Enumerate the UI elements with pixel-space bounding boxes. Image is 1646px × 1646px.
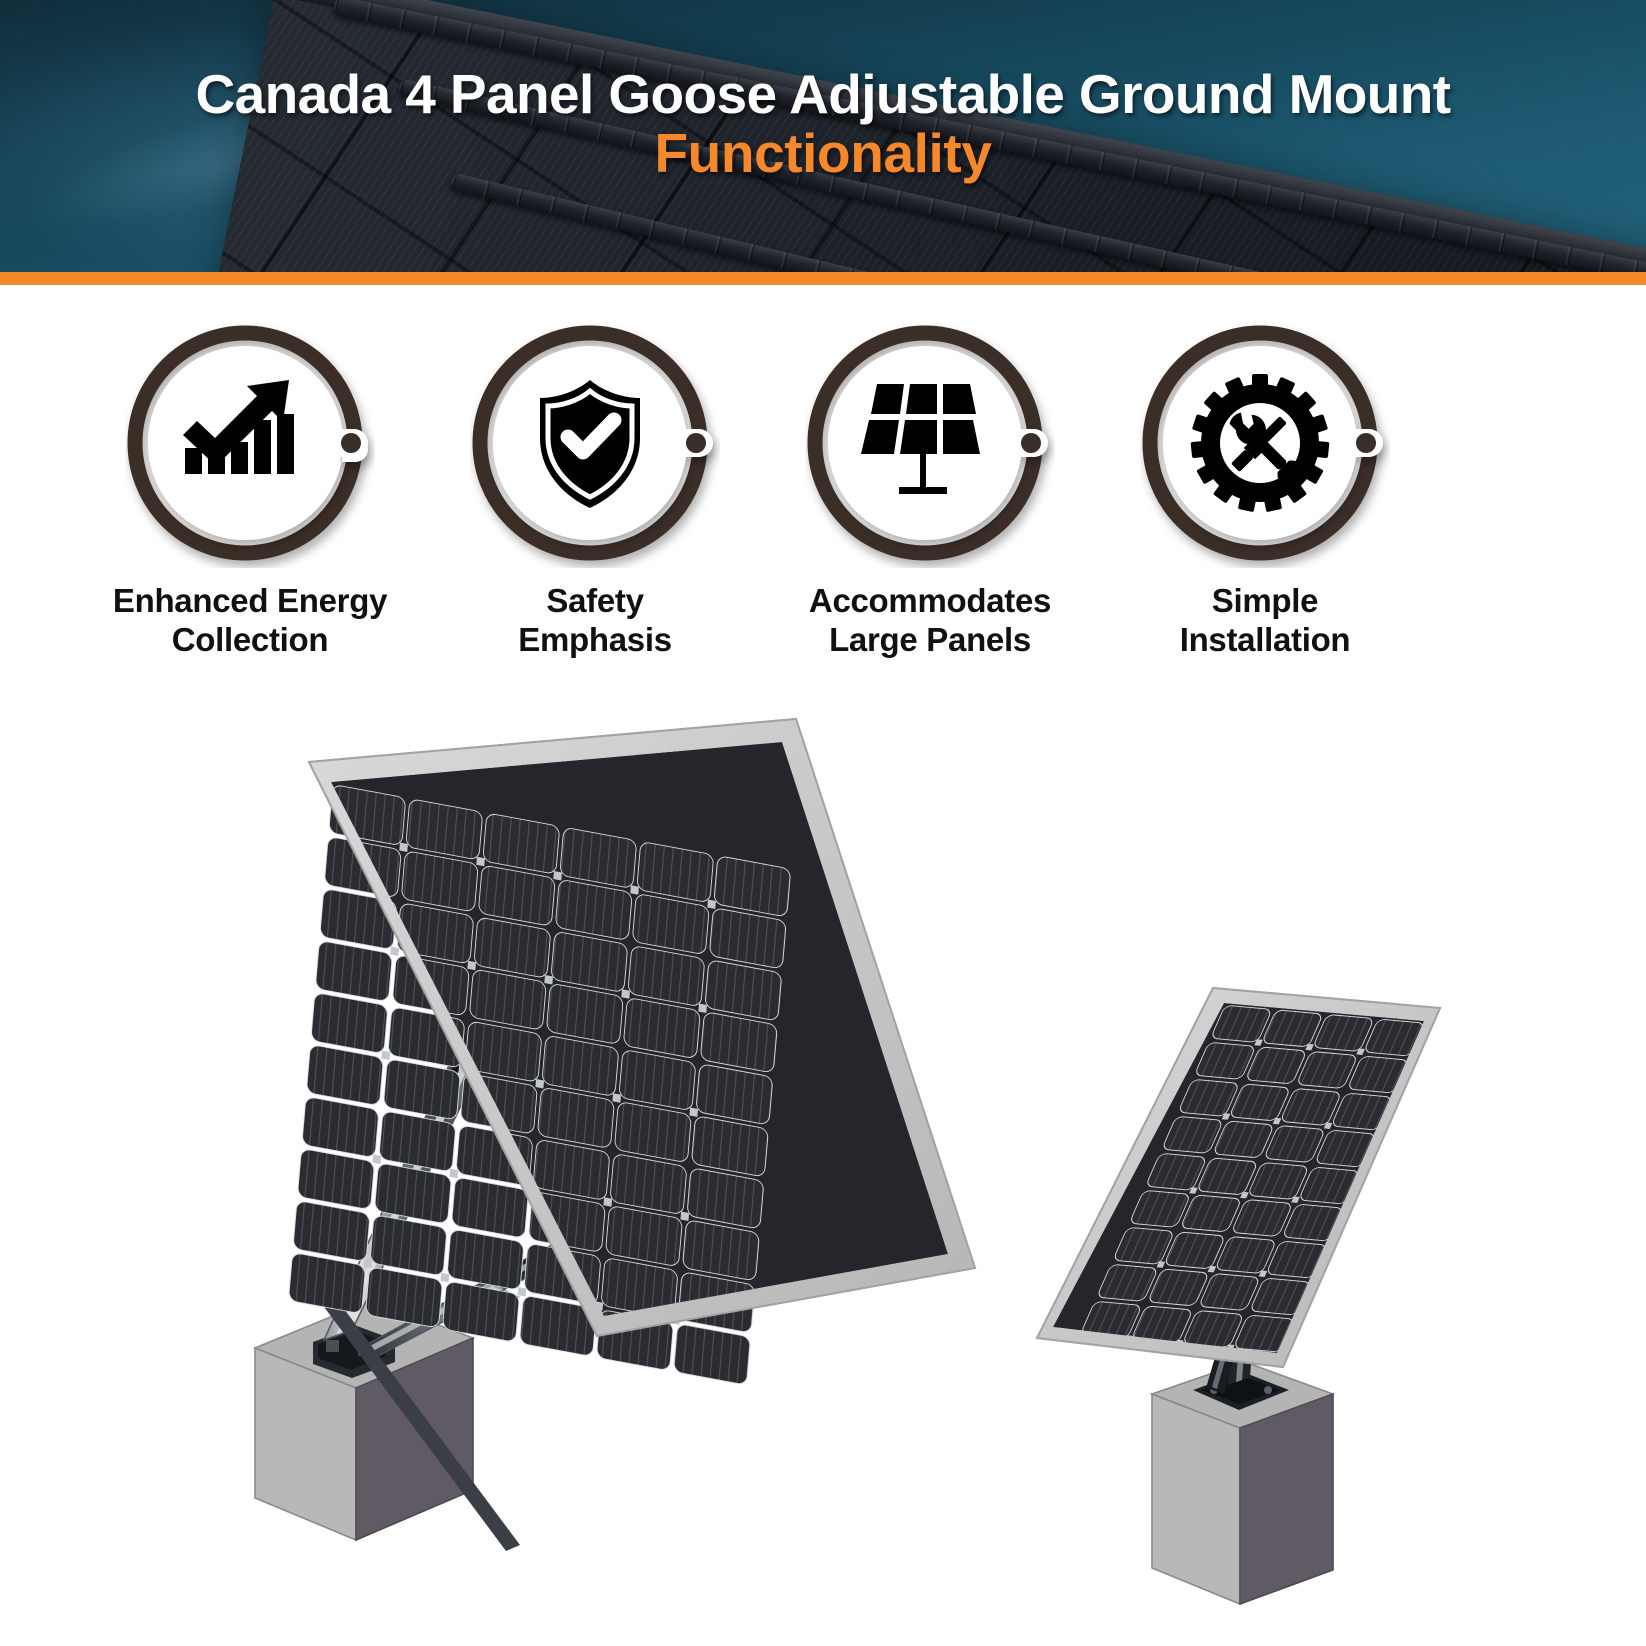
header-text-block: Canada 4 Panel Goose Adjustable Ground M… — [0, 0, 1646, 184]
feature-row: Enhanced Energy Collection — [0, 300, 1646, 720]
feature-safety-emphasis[interactable]: Safety Emphasis — [421, 300, 769, 660]
badge-safety-emphasis — [470, 318, 720, 568]
page-title: Canada 4 Panel Goose Adjustable Ground M… — [0, 66, 1646, 123]
product-renders — [0, 716, 1646, 1646]
page-subtitle: Functionality — [0, 123, 1646, 184]
render-left-ground-mount — [255, 719, 975, 1646]
badge-simple-installation — [1140, 318, 1390, 568]
solar-panel-left — [288, 719, 975, 1385]
feature-label: Accommodates Large Panels — [756, 582, 1104, 660]
orange-accent-divider — [0, 272, 1646, 285]
feature-accommodates-large-panels[interactable]: Accommodates Large Panels — [756, 300, 1104, 660]
feature-label: Simple Installation — [1091, 582, 1439, 660]
growth-chart-arrow-icon — [125, 318, 375, 568]
infographic-page: Canada 4 Panel Goose Adjustable Ground M… — [0, 0, 1646, 1646]
gear-tools-icon — [1140, 318, 1390, 568]
solar-panel-right — [1037, 988, 1440, 1367]
feature-enhanced-energy-collection[interactable]: Enhanced Energy Collection — [76, 300, 424, 660]
render-right-ground-mount — [1037, 988, 1440, 1604]
shield-check-icon — [470, 318, 720, 568]
badge-enhanced-energy-collection — [125, 318, 375, 568]
feature-label: Safety Emphasis — [421, 582, 769, 660]
feature-label: Enhanced Energy Collection — [76, 582, 424, 660]
feature-simple-installation[interactable]: Simple Installation — [1091, 300, 1439, 660]
solar-panel-icon — [805, 318, 1055, 568]
badge-accommodates-large-panels — [805, 318, 1055, 568]
product-render-area — [0, 716, 1646, 1646]
header-banner: Canada 4 Panel Goose Adjustable Ground M… — [0, 0, 1646, 272]
